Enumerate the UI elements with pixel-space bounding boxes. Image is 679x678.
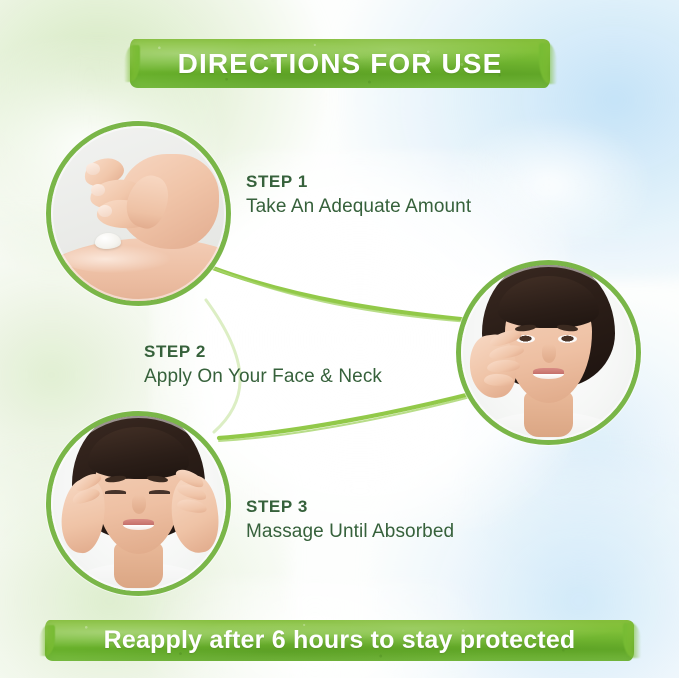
closed-eye-right bbox=[149, 490, 170, 494]
cream-drop bbox=[95, 233, 121, 249]
directions-title-banner: DIRECTIONS FOR USE bbox=[130, 39, 550, 88]
woman-massaging-face-photo bbox=[51, 416, 226, 591]
footer-note: Reapply after 6 hours to stay protected bbox=[104, 626, 576, 655]
closed-eye-left bbox=[105, 490, 126, 494]
nose-shape bbox=[132, 495, 146, 514]
step-3-text-block: STEP 3 Massage Until Absorbed bbox=[246, 497, 454, 543]
step-1-description: Take An Adequate Amount bbox=[246, 196, 471, 218]
infographic-canvas: DIRECTIONS FOR USE STEP 1 Take An Adequa… bbox=[0, 0, 679, 678]
page-title: DIRECTIONS FOR USE bbox=[178, 48, 503, 80]
step-2-label: STEP 2 bbox=[144, 342, 382, 362]
step-2-image-circle bbox=[461, 265, 636, 440]
smiling-mouth bbox=[533, 368, 565, 379]
smiling-mouth bbox=[123, 519, 155, 530]
hand-dispensing-cream-photo bbox=[51, 126, 226, 301]
step-3-image-circle bbox=[51, 416, 226, 591]
step-3-description: Massage Until Absorbed bbox=[246, 521, 454, 543]
forearm-highlight bbox=[62, 245, 171, 273]
step-2-description: Apply On Your Face & Neck bbox=[144, 366, 382, 388]
step-1-label: STEP 1 bbox=[246, 172, 471, 192]
step-1-text-block: STEP 1 Take An Adequate Amount bbox=[246, 172, 471, 218]
woman-applying-to-face-photo bbox=[461, 265, 636, 440]
step-2-text-block: STEP 2 Apply On Your Face & Neck bbox=[144, 342, 382, 388]
reapply-note-banner: Reapply after 6 hours to stay protected bbox=[45, 620, 634, 661]
step-3-label: STEP 3 bbox=[246, 497, 454, 517]
fingernail-1 bbox=[86, 163, 100, 175]
step-1-image-circle bbox=[51, 126, 226, 301]
nose-shape bbox=[542, 344, 556, 363]
